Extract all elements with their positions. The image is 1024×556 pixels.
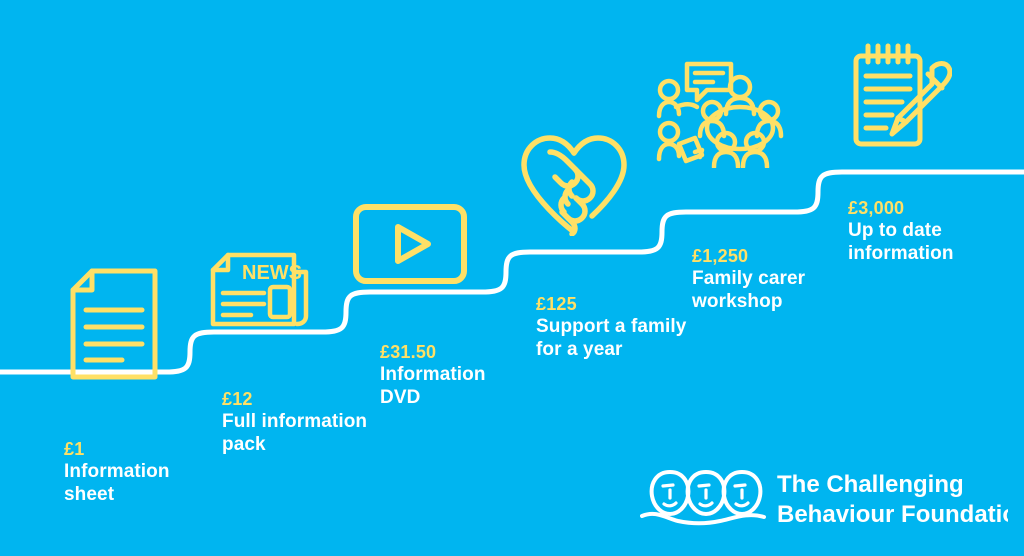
step-label-up-to-date-information: £3,000 Up to date information xyxy=(848,197,954,265)
step-description: Full information pack xyxy=(222,410,367,456)
step-label-family-carer-workshop: £1,250 Family carer workshop xyxy=(692,245,805,313)
infographic-canvas: NEWS xyxy=(0,0,1024,556)
step-description: Support a family for a year xyxy=(536,315,686,361)
group-workshop-icon xyxy=(655,56,797,168)
notepad-pencil-icon xyxy=(848,42,952,148)
step-amount: £1 xyxy=(64,438,170,460)
logo-line-2: Behaviour Foundation xyxy=(777,501,1008,528)
three-faces-icon xyxy=(642,472,764,523)
step-amount: £125 xyxy=(536,293,686,315)
step-amount: £1,250 xyxy=(692,245,805,267)
step-description: Information DVD xyxy=(380,363,486,409)
logo-line-1: The Challenging xyxy=(777,471,964,498)
step-label-full-information-pack: £12 Full information pack xyxy=(222,388,367,456)
document-sheet-icon xyxy=(70,268,158,380)
organisation-logo: The Challenging Behaviour Foundation xyxy=(640,460,1008,532)
step-description: Information sheet xyxy=(64,460,170,506)
step-label-information-dvd: £31.50 Information DVD xyxy=(380,341,486,409)
handshake-heart-icon xyxy=(518,132,630,236)
newspaper-icon: NEWS xyxy=(210,252,314,328)
step-amount: £12 xyxy=(222,388,367,410)
step-amount: £31.50 xyxy=(380,341,486,363)
svg-text:NEWS: NEWS xyxy=(242,262,302,284)
video-play-icon xyxy=(352,203,468,285)
step-amount: £3,000 xyxy=(848,197,954,219)
step-label-information-sheet: £1 Information sheet xyxy=(64,438,170,506)
step-description: Up to date information xyxy=(848,219,954,265)
step-description: Family carer workshop xyxy=(692,267,805,313)
step-label-support-a-family: £125 Support a family for a year xyxy=(536,293,686,361)
